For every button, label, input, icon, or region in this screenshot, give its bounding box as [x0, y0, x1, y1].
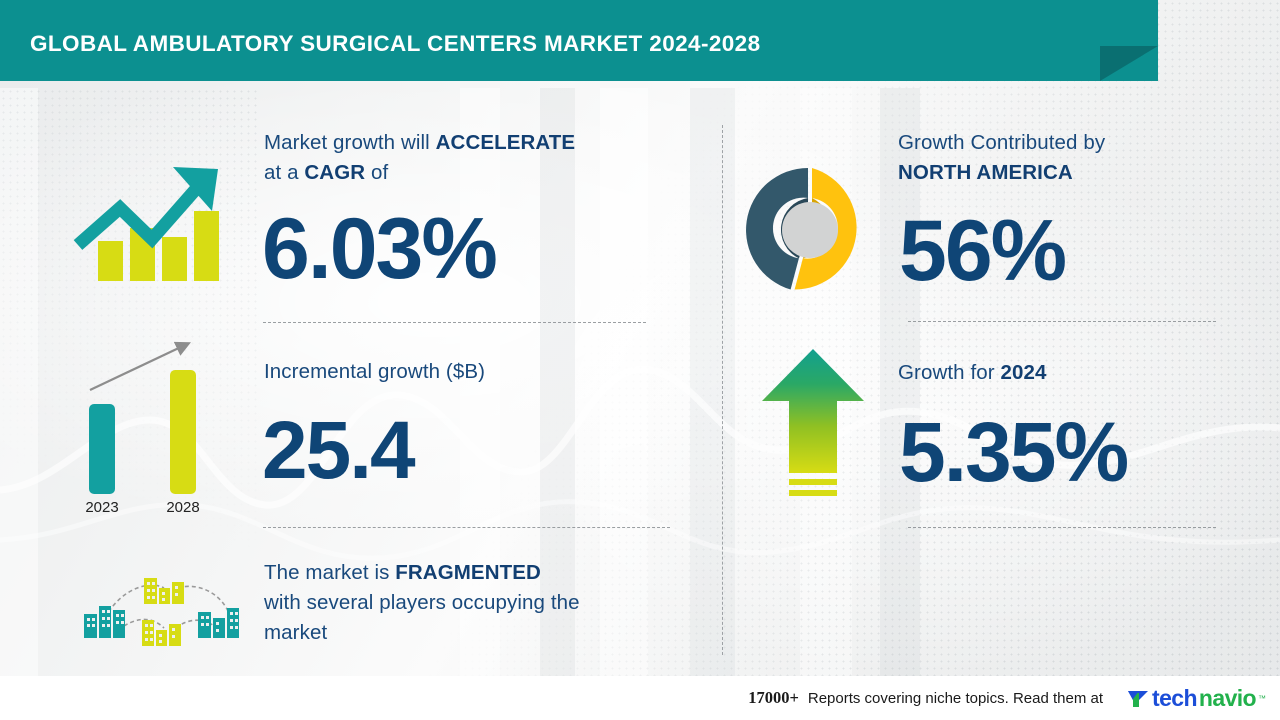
region-line1: Growth Contributed by: [898, 131, 1105, 154]
connected-city-clusters-icon: [72, 566, 250, 654]
logo-trademark: ™: [1258, 694, 1266, 703]
footer-bar: 17000+ Reports covering niche topics. Re…: [0, 676, 1280, 720]
region-heading: Growth Contributed by NORTH AMERICA: [898, 128, 1238, 188]
cagr-line1-prefix: Market growth will: [264, 131, 436, 154]
fragmented-line3: market: [264, 621, 327, 644]
fragmented-line1-bold: FRAGMENTED: [395, 561, 541, 584]
page-title: GLOBAL AMBULATORY SURGICAL CENTERS MARKE…: [30, 31, 761, 57]
incremental-growth-value: 25.4: [262, 410, 414, 492]
two-bar-growth-icon: 2023 2028: [78, 332, 228, 517]
logo-word-navio: navio: [1199, 685, 1256, 712]
bar-label-2028: 2028: [166, 499, 199, 516]
region-line2-bold: NORTH AMERICA: [898, 161, 1073, 184]
cagr-heading: Market growth will ACCELERATE at a CAGR …: [264, 128, 684, 188]
cagr-line2-prefix: at a: [264, 161, 304, 184]
fragmented-line2: with several players occupying the: [264, 591, 580, 614]
fragmented-heading: The market is FRAGMENTED with several pl…: [264, 558, 694, 648]
growth-chart-arrow-icon: [70, 145, 230, 295]
divider-left-lower: [263, 527, 670, 528]
cagr-value: 6.03%: [262, 206, 496, 292]
logo-word-tech: tech: [1152, 685, 1197, 712]
divider-right-upper: [908, 321, 1216, 322]
technavio-triangle-mark: [1126, 686, 1150, 710]
technavio-logo[interactable]: technavio™: [1126, 685, 1266, 712]
year-growth-label-prefix: Growth for: [898, 361, 1001, 384]
donut-chart-icon: [740, 160, 880, 300]
fragmented-line1-prefix: The market is: [264, 561, 395, 584]
incremental-growth-label: Incremental growth ($B): [264, 357, 684, 387]
footer-report-count: 17000+: [748, 688, 799, 708]
infographic-canvas: GLOBAL AMBULATORY SURGICAL CENTERS MARKE…: [0, 0, 1280, 720]
divider-left-upper: [263, 322, 646, 323]
divider-vertical-center: [722, 125, 723, 655]
cagr-line1-bold: ACCELERATE: [436, 131, 576, 154]
cagr-line2-suffix: of: [365, 161, 388, 184]
year-growth-value: 5.35%: [899, 410, 1127, 494]
bar-label-2023: 2023: [85, 499, 118, 516]
year-growth-label-bold: 2024: [1001, 361, 1047, 384]
cagr-line2-bold: CAGR: [304, 161, 365, 184]
footer-text: Reports covering niche topics. Read them…: [808, 690, 1103, 707]
year-growth-heading: Growth for 2024: [898, 358, 1238, 388]
region-value: 56%: [899, 208, 1065, 294]
header-fold-corner: [1100, 46, 1158, 81]
upward-gradient-arrow-icon: [758, 345, 868, 515]
divider-right-lower: [908, 527, 1216, 528]
